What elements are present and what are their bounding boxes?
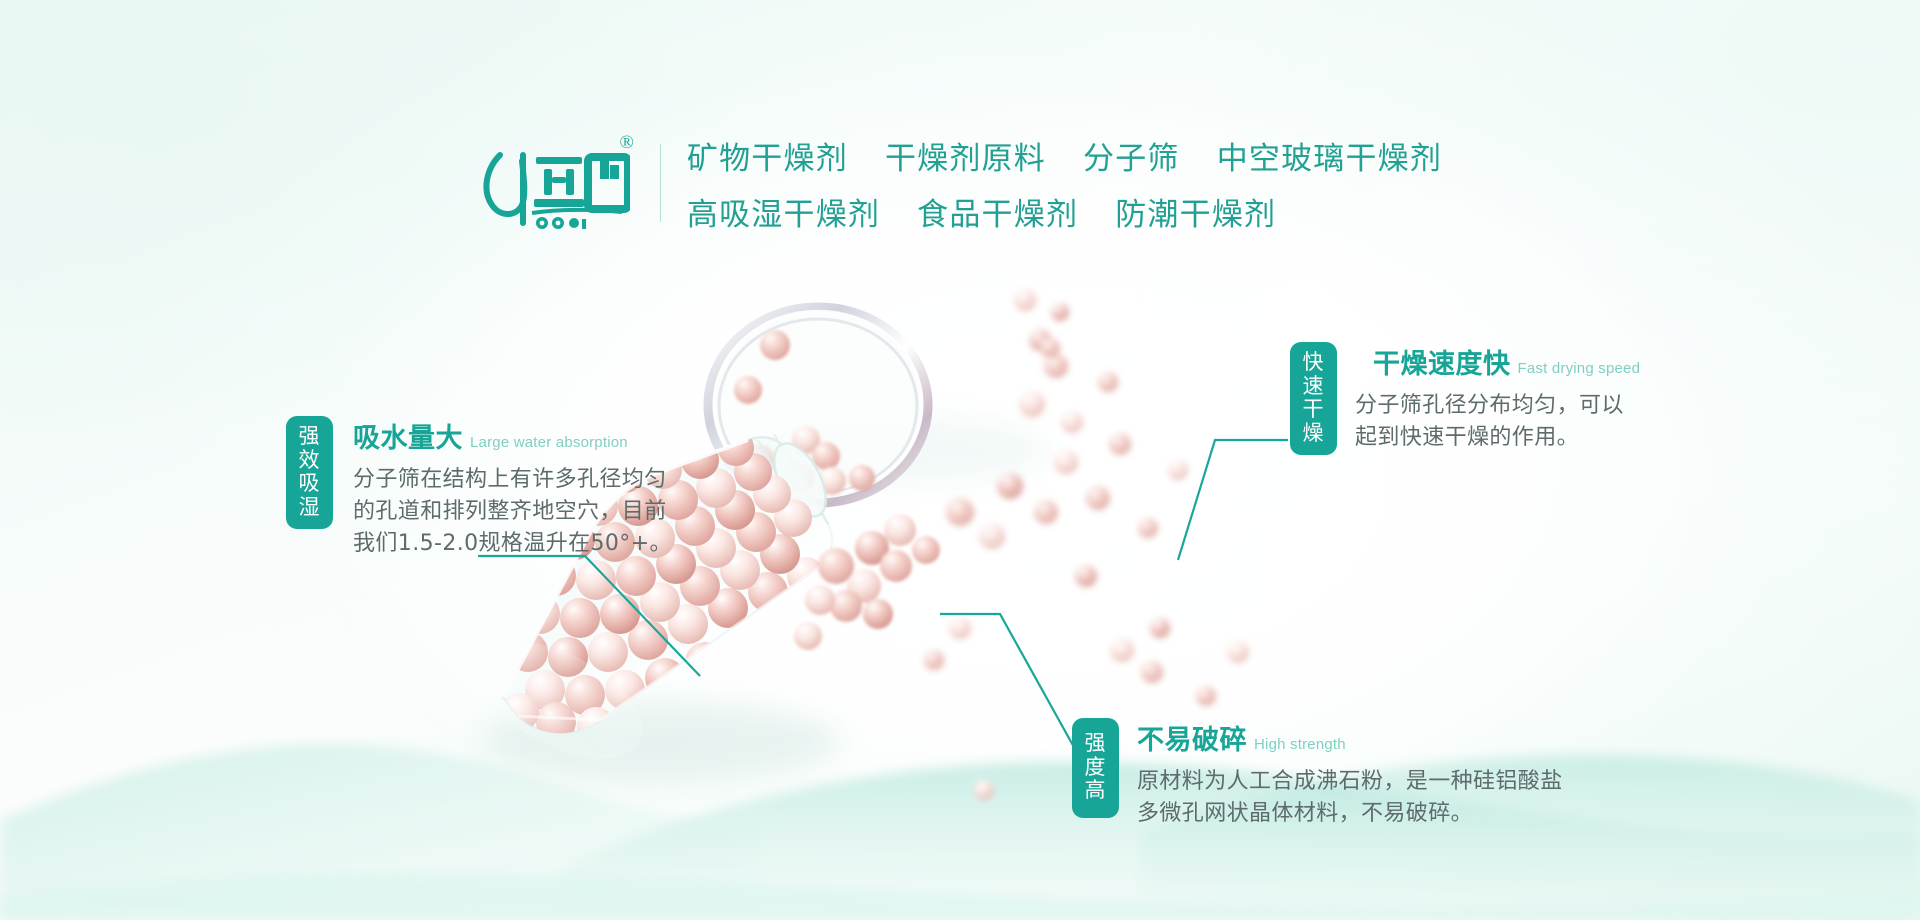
glass-petri-ring (708, 307, 928, 503)
badge-strength: 强 度 高 (1072, 718, 1119, 818)
badge-char: 吸 (299, 472, 321, 496)
callout-high-strength[interactable]: 强 度 高 不易破碎 High strength 原材料为人工合成沸石粉，是一种… (1072, 718, 1563, 830)
callout-subtitle: Large water absorption (470, 434, 628, 451)
tagline-keyword: 食品干燥剂 (917, 197, 1078, 233)
callout-body: 吸水量大 Large water absorption 分子筛在结构上有许多孔径… (353, 416, 672, 560)
badge-char: 快 (1303, 351, 1325, 375)
callout-description: 分子筛孔径分布均匀，可以 起到快速干燥的作用。 (1355, 390, 1640, 454)
wave-foreground (0, 873, 1920, 920)
badge-speed: 快 速 干 燥 (1290, 342, 1337, 455)
connector-speed (1178, 440, 1288, 560)
callout-description: 原材料为人工合成沸石粉，是一种硅铝酸盐 多微孔网状晶体材料，不易破碎。 (1137, 766, 1563, 830)
banner-stage: ® 矿物干燥剂 干燥剂原料 分子筛 中空玻璃干燥剂 高吸湿干燥剂 食品干燥剂 防… (0, 0, 1920, 920)
callout-description: 分子筛在结构上有许多孔径均匀 的孔道和排列整齐地空穴，目前 我们1.5-2.0规… (353, 464, 672, 560)
banner-header: ® 矿物干燥剂 干燥剂原料 分子筛 中空玻璃干燥剂 高吸湿干燥剂 食品干燥剂 防… (0, 128, 1920, 238)
logo-mark-icon (478, 139, 630, 231)
callout-heading: 不易破碎 High strength (1137, 718, 1563, 757)
badge-char: 强 (1085, 732, 1107, 756)
connector-absorption (478, 556, 700, 676)
callout-subtitle: Fast drying speed (1518, 360, 1641, 377)
tagline-row-1: 矿物干燥剂 干燥剂原料 分子筛 中空玻璃干燥剂 (687, 133, 1442, 178)
badge-char: 强 (299, 425, 321, 449)
tagline-row-2: 高吸湿干燥剂 食品干燥剂 防潮干燥剂 (687, 189, 1442, 234)
header-divider (660, 144, 661, 222)
brand-logo[interactable]: ® (478, 133, 638, 233)
brand-tagline: 矿物干燥剂 干燥剂原料 分子筛 中空玻璃干燥剂 高吸湿干燥剂 食品干燥剂 防潮干… (687, 133, 1442, 234)
callout-fast-drying-speed[interactable]: 快 速 干 燥 干燥速度快 Fast drying speed 分子筛孔径分布均… (1290, 342, 1640, 455)
badge-char: 燥 (1303, 422, 1325, 446)
ring-shadow (750, 416, 1050, 484)
logo-latin-text (536, 217, 584, 229)
badge-char: 湿 (299, 496, 321, 520)
tagline-keyword: 防潮干燥剂 (1115, 197, 1276, 233)
bottle-shadow (480, 702, 840, 782)
tagline-keyword: 高吸湿干燥剂 (687, 197, 880, 233)
badge-char: 效 (299, 449, 321, 473)
tagline-keyword: 矿物干燥剂 (687, 141, 848, 177)
callout-subtitle: High strength (1254, 736, 1346, 753)
badge-absorption: 强 效 吸 湿 (286, 416, 333, 529)
background-waves (0, 700, 1920, 920)
logo-char-ya (534, 157, 584, 207)
registered-trademark-icon: ® (619, 133, 633, 152)
callout-body: 干燥速度快 Fast drying speed 分子筛孔径分布均匀，可以 起到快… (1355, 342, 1640, 454)
wave-left (0, 744, 760, 920)
logo-char-ao (588, 153, 628, 209)
badge-char: 干 (1303, 398, 1325, 422)
callout-body: 不易破碎 High strength 原材料为人工合成沸石粉，是一种硅铝酸盐 多… (1137, 718, 1563, 830)
callout-title: 吸水量大 (353, 416, 463, 455)
callout-heading: 吸水量大 Large water absorption (353, 416, 672, 455)
badge-char: 度 (1085, 756, 1107, 780)
badge-char: 速 (1303, 375, 1325, 399)
badge-char: 高 (1085, 779, 1107, 803)
tagline-keyword: 中空玻璃干燥剂 (1217, 141, 1442, 177)
callout-large-water-absorption[interactable]: 强 效 吸 湿 吸水量大 Large water absorption 分子筛在… (286, 416, 672, 560)
connector-strength (940, 614, 1090, 776)
callout-title: 干燥速度快 (1373, 342, 1511, 381)
tagline-keyword: 分子筛 (1083, 141, 1180, 177)
callout-heading: 干燥速度快 Fast drying speed (1355, 342, 1640, 381)
tagline-keyword: 干燥剂原料 (885, 141, 1046, 177)
callout-title: 不易破碎 (1137, 718, 1247, 757)
